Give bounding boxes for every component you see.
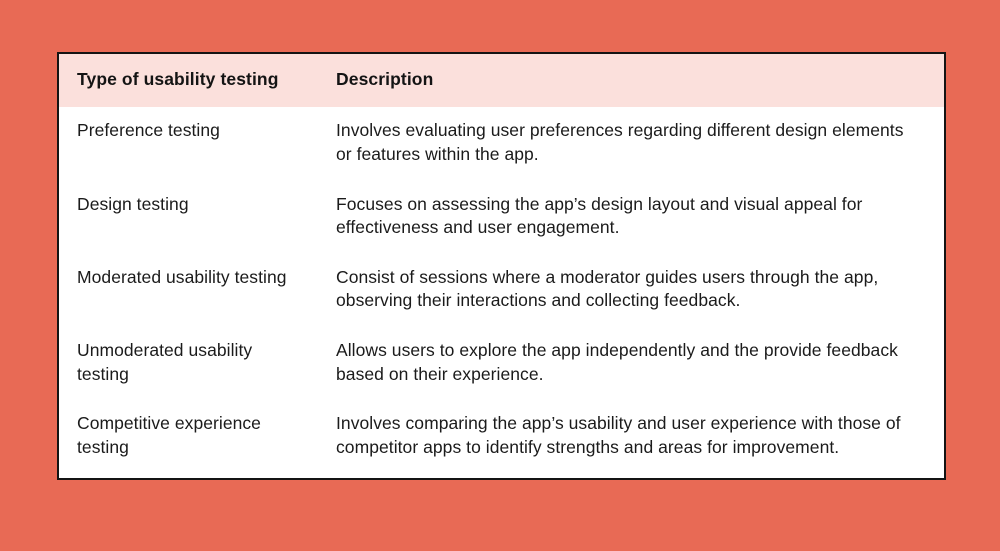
cell-type: Unmoderated usability testing	[58, 327, 318, 400]
cell-description: Involves comparing the app’s usability a…	[318, 400, 945, 478]
table-header: Type of usability testing Description	[58, 53, 945, 107]
cell-type: Design testing	[58, 181, 318, 254]
cell-description: Involves evaluating user preferences reg…	[318, 107, 945, 180]
table-header-row: Type of usability testing Description	[58, 53, 945, 107]
usability-testing-table: Type of usability testing Description Pr…	[57, 52, 946, 480]
table-row: Preference testing Involves evaluating u…	[58, 107, 945, 180]
cell-type: Moderated usability testing	[58, 254, 318, 327]
cell-description: Focuses on assessing the app’s design la…	[318, 181, 945, 254]
cell-type: Preference testing	[58, 107, 318, 180]
cell-description: Allows users to explore the app independ…	[318, 327, 945, 400]
cell-type: Competitive experience testing	[58, 400, 318, 478]
table-row: Competitive experience testing Involves …	[58, 400, 945, 478]
column-header-description: Description	[318, 53, 945, 107]
table-row: Design testing Focuses on assessing the …	[58, 181, 945, 254]
table-row: Moderated usability testing Consist of s…	[58, 254, 945, 327]
table-row: Unmoderated usability testing Allows use…	[58, 327, 945, 400]
cell-description: Consist of sessions where a moderator gu…	[318, 254, 945, 327]
table-body: Preference testing Involves evaluating u…	[58, 107, 945, 478]
column-header-type: Type of usability testing	[58, 53, 318, 107]
page-canvas: Type of usability testing Description Pr…	[0, 0, 1000, 551]
